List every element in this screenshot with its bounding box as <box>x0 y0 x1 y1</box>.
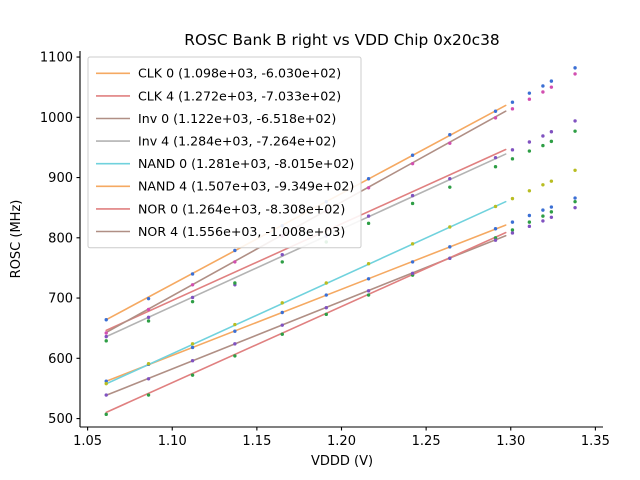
x-tick-label: 1.10 <box>158 434 187 449</box>
scatter-nand-4-point <box>233 249 236 252</box>
legend-label-nand-4[interactable]: NAND 4 (1.507e+03, -9.349e+02) <box>138 179 354 194</box>
scatter-nor-0-point <box>448 185 451 188</box>
scatter-clk-0-point <box>411 260 414 263</box>
scatter-nand-0-point <box>448 225 451 228</box>
x-tick-label: 1.30 <box>496 434 525 449</box>
scatter-inv-4-point <box>411 194 414 197</box>
scatter-nor-0-point <box>511 157 514 160</box>
legend-background <box>88 57 361 248</box>
scatter-nor-4-point <box>573 72 576 75</box>
scatter-nand-0-point <box>147 362 150 365</box>
scatter-nor-4-point <box>528 98 531 101</box>
y-tick-label: 600 <box>48 352 73 367</box>
scatter-nor-0-point <box>528 149 531 152</box>
scatter-nor-4-point <box>233 260 236 263</box>
scatter-clk-0-point <box>494 227 497 230</box>
y-tick-label: 800 <box>48 231 73 246</box>
scatter-nand-0-point <box>573 169 576 172</box>
scatter-nand-4-point <box>367 177 370 180</box>
scatter-nor-4-point <box>541 90 544 93</box>
chart-title: ROSC Bank B right vs VDD Chip 0x20c38 <box>184 31 499 49</box>
legend-label-inv-0[interactable]: Inv 0 (1.122e+03, -6.518e+02) <box>138 111 336 126</box>
scatter-inv-0-point <box>494 239 497 242</box>
scatter-nor-4-point <box>411 162 414 165</box>
scatter-inv-0-point <box>367 289 370 292</box>
scatter-clk-4-point <box>541 214 544 217</box>
scatter-nor-0-point <box>550 140 553 143</box>
scatter-nor-0-point <box>367 222 370 225</box>
scatter-nand-0-point <box>191 342 194 345</box>
scatter-nand-0-point <box>105 382 108 385</box>
scatter-clk-0-point <box>191 346 194 349</box>
scatter-nor-0-point <box>541 144 544 147</box>
scatter-inv-4-point <box>191 296 194 299</box>
scatter-inv-0-point <box>233 342 236 345</box>
scatter-clk-0-point <box>367 277 370 280</box>
scatter-clk-4-point <box>105 413 108 416</box>
scatter-nand-4-point <box>494 110 497 113</box>
scatter-clk-4-point <box>147 393 150 396</box>
scatter-clk-0-point <box>573 196 576 199</box>
scatter-nor-0-point <box>147 319 150 322</box>
scatter-inv-4-point <box>528 140 531 143</box>
legend-label-nor-4[interactable]: NOR 4 (1.556e+03, -1.008e+03) <box>138 224 345 239</box>
scatter-nor-4-point <box>147 308 150 311</box>
scatter-clk-4-point <box>281 333 284 336</box>
scatter-inv-0-point <box>147 377 150 380</box>
scatter-nand-4-point <box>105 318 108 321</box>
y-tick-label: 1000 <box>40 111 73 126</box>
scatter-nor-0-point <box>191 300 194 303</box>
legend-label-nand-0[interactable]: NAND 0 (1.281e+03, -8.015e+02) <box>138 156 354 171</box>
scatter-nor-0-point <box>233 281 236 284</box>
scatter-nand-4-point <box>147 297 150 300</box>
x-tick-label: 1.05 <box>73 434 102 449</box>
scatter-nor-0-point <box>105 339 108 342</box>
legend-label-clk-0[interactable]: CLK 0 (1.098e+03, -6.030e+02) <box>138 66 341 81</box>
scatter-clk-0-point <box>541 208 544 211</box>
scatter-nand-4-point <box>448 133 451 136</box>
scatter-clk-0-point <box>233 329 236 332</box>
scatter-inv-0-point <box>105 393 108 396</box>
scatter-nand-0-point <box>411 242 414 245</box>
y-axis-title: ROSC (MHz) <box>9 200 24 279</box>
scatter-nand-4-point <box>511 101 514 104</box>
scatter-inv-4-point <box>494 156 497 159</box>
x-tick-label: 1.25 <box>412 434 441 449</box>
scatter-nor-0-point <box>411 202 414 205</box>
scatter-nor-0-point <box>573 129 576 132</box>
scatter-nand-0-point <box>281 301 284 304</box>
scatter-nand-0-point <box>367 262 370 265</box>
scatter-nor-4-point <box>191 283 194 286</box>
scatter-clk-4-point <box>367 293 370 296</box>
scatter-nor-4-point <box>494 116 497 119</box>
scatter-clk-4-point <box>573 200 576 203</box>
scatter-inv-0-point <box>528 225 531 228</box>
scatter-clk-0-point <box>550 205 553 208</box>
scatter-nor-4-point <box>511 107 514 110</box>
x-tick-label: 1.15 <box>242 434 271 449</box>
scatter-inv-4-point <box>367 214 370 217</box>
x-axis-title: VDDD (V) <box>311 454 373 469</box>
scatter-nor-4-point <box>105 331 108 334</box>
scatter-nand-4-point <box>411 154 414 157</box>
scatter-nand-0-point <box>233 323 236 326</box>
scatter-inv-0-point <box>325 306 328 309</box>
scatter-nand-4-point <box>541 84 544 87</box>
y-tick-label: 1100 <box>40 51 73 66</box>
scatter-inv-4-point <box>147 316 150 319</box>
x-tick-label: 1.35 <box>581 434 610 449</box>
scatter-nand-0-point <box>325 281 328 284</box>
chart-canvas: ROSC Bank B right vs VDD Chip 0x20c38 50… <box>0 0 640 480</box>
scatter-clk-4-point <box>325 313 328 316</box>
scatter-inv-4-point <box>511 148 514 151</box>
matplotlib-figure: ROSC Bank B right vs VDD Chip 0x20c38 50… <box>0 0 640 480</box>
scatter-nor-0-point <box>281 260 284 263</box>
scatter-nand-4-point <box>550 79 553 82</box>
scatter-nand-4-point <box>528 91 531 94</box>
legend-label-clk-4[interactable]: CLK 4 (1.272e+03, -7.033e+02) <box>138 88 341 103</box>
scatter-nand-0-point <box>541 183 544 186</box>
x-tick-label: 1.20 <box>327 434 356 449</box>
scatter-nand-4-point <box>191 272 194 275</box>
scatter-inv-0-point <box>511 231 514 234</box>
scatter-nor-0-point <box>494 165 497 168</box>
scatter-clk-0-point <box>281 311 284 314</box>
scatter-inv-4-point <box>573 119 576 122</box>
scatter-clk-0-point <box>448 245 451 248</box>
scatter-inv-0-point <box>541 219 544 222</box>
legend[interactable]: CLK 0 (1.098e+03, -6.030e+02)CLK 4 (1.27… <box>88 57 361 248</box>
scatter-nand-4-point <box>573 66 576 69</box>
scatter-nand-0-point <box>550 179 553 182</box>
y-tick-label: 700 <box>48 292 73 307</box>
legend-label-inv-4[interactable]: Inv 4 (1.284e+03, -7.264e+02) <box>138 134 336 149</box>
scatter-inv-4-point <box>550 130 553 133</box>
scatter-inv-0-point <box>573 206 576 209</box>
scatter-inv-4-point <box>281 253 284 256</box>
scatter-nor-4-point <box>367 186 370 189</box>
scatter-nand-0-point <box>528 189 531 192</box>
scatter-nor-4-point <box>448 141 451 144</box>
scatter-nor-4-point <box>550 85 553 88</box>
scatter-inv-0-point <box>191 359 194 362</box>
scatter-clk-0-point <box>511 220 514 223</box>
scatter-clk-0-point <box>528 214 531 217</box>
legend-label-nor-0[interactable]: NOR 0 (1.264e+03, -8.308e+02) <box>138 201 345 216</box>
scatter-clk-4-point <box>191 373 194 376</box>
scatter-clk-4-point <box>528 220 531 223</box>
scatter-clk-4-point <box>550 210 553 213</box>
scatter-inv-0-point <box>281 323 284 326</box>
scatter-inv-4-point <box>105 335 108 338</box>
scatter-inv-0-point <box>448 257 451 260</box>
scatter-clk-4-point <box>511 228 514 231</box>
scatter-inv-0-point <box>550 216 553 219</box>
scatter-nand-0-point <box>494 205 497 208</box>
y-tick-label: 900 <box>48 171 73 186</box>
scatter-inv-4-point <box>541 134 544 137</box>
scatter-clk-4-point <box>233 354 236 357</box>
scatter-inv-0-point <box>411 272 414 275</box>
scatter-inv-4-point <box>448 177 451 180</box>
scatter-clk-0-point <box>325 293 328 296</box>
scatter-nand-0-point <box>511 197 514 200</box>
y-tick-label: 500 <box>48 412 73 427</box>
